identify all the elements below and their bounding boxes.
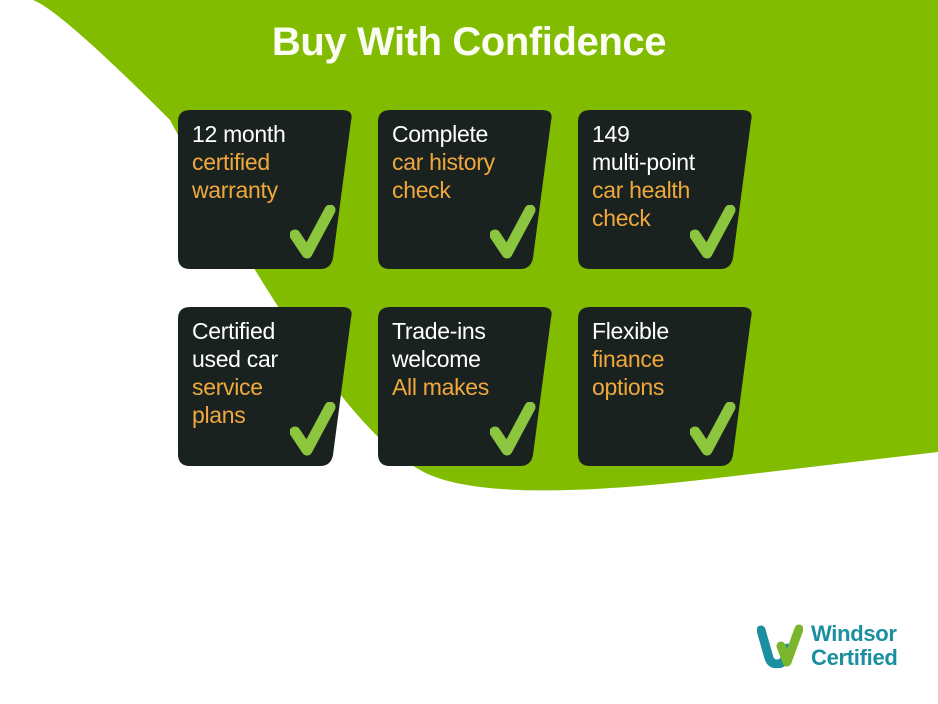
card-line: 12 month [192, 120, 338, 148]
green-tick-icon [290, 402, 336, 460]
card-text: 12 month certified warranty [192, 120, 338, 204]
card-text: Flexible finance options [592, 317, 738, 401]
benefit-card-car-history-check[interactable]: Complete car history check [378, 110, 554, 269]
windsor-w-icon [757, 624, 803, 668]
card-line: used car [192, 345, 338, 373]
card-line: warranty [192, 176, 338, 204]
green-tick-icon [490, 402, 536, 460]
card-line: options [592, 373, 738, 401]
benefit-card-trade-ins-welcome[interactable]: Trade-ins welcome All makes [378, 307, 554, 466]
card-line: Certified [192, 317, 338, 345]
benefit-card-certified-warranty[interactable]: 12 month certified warranty [178, 110, 354, 269]
card-line: multi-point [592, 148, 738, 176]
windsor-certified-logo: Windsor Certified [757, 622, 898, 670]
green-tick-icon [490, 205, 536, 263]
card-text: Trade-ins welcome All makes [392, 317, 538, 401]
card-text: Complete car history check [392, 120, 538, 204]
benefit-card-multi-point-health-check[interactable]: 149 multi-point car health check [578, 110, 754, 269]
card-line: welcome [392, 345, 538, 373]
card-line: All makes [392, 373, 538, 401]
green-tick-icon [690, 402, 736, 460]
card-line: car health [592, 176, 738, 204]
card-line: finance [592, 345, 738, 373]
benefit-card-used-car-service-plans[interactable]: Certified used car service plans [178, 307, 354, 466]
card-line: service [192, 373, 338, 401]
benefits-row-2: Certified used car service plans Trade-i… [178, 307, 778, 466]
logo-wordmark: Windsor Certified [811, 622, 898, 670]
benefit-card-flexible-finance-options[interactable]: Flexible finance options [578, 307, 754, 466]
logo-line-1: Windsor [811, 622, 898, 646]
benefits-grid: 12 month certified warranty Complete car… [178, 110, 778, 466]
green-tick-icon [690, 205, 736, 263]
card-line: certified [192, 148, 338, 176]
card-line: Flexible [592, 317, 738, 345]
benefits-row-1: 12 month certified warranty Complete car… [178, 110, 778, 269]
card-line: Complete [392, 120, 538, 148]
page-title: Buy With Confidence [0, 18, 938, 66]
logo-line-2: Certified [811, 646, 898, 670]
card-line: car history [392, 148, 538, 176]
green-tick-icon [290, 205, 336, 263]
card-line: Trade-ins [392, 317, 538, 345]
card-line: check [392, 176, 538, 204]
card-line: 149 [592, 120, 738, 148]
